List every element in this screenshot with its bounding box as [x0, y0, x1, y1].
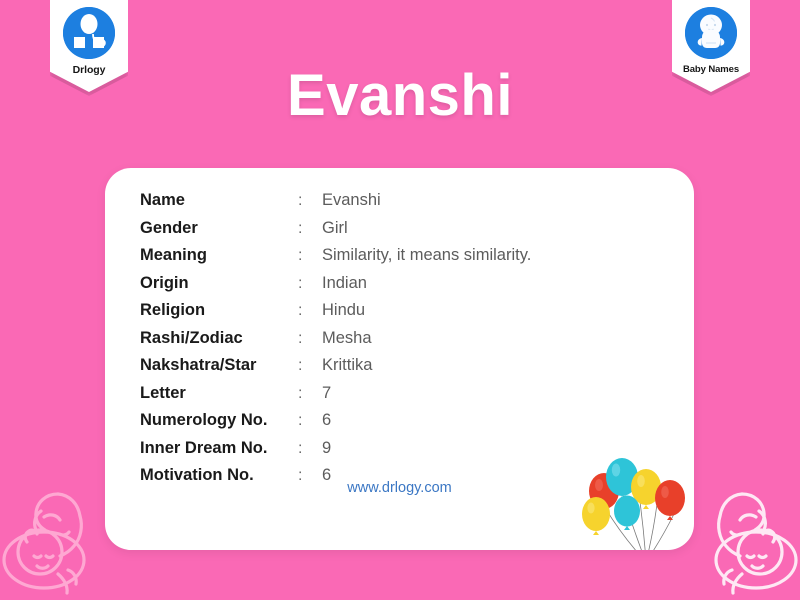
row-label: Religion — [140, 301, 298, 329]
row-separator: : — [298, 246, 322, 274]
row-label: Meaning — [140, 246, 298, 274]
row-value: 7 — [322, 384, 531, 412]
row-value: Similarity, it means similarity. — [322, 246, 531, 274]
row-label: Name — [140, 191, 298, 219]
table-row: Letter : 7 — [140, 384, 531, 412]
website-url[interactable]: www.drlogy.com — [105, 480, 694, 496]
table-row: Name : Evanshi — [140, 191, 531, 219]
table-row: Numerology No. : 6 — [140, 411, 531, 439]
row-separator: : — [298, 329, 322, 357]
row-separator: : — [298, 301, 322, 329]
row-value: Hindu — [322, 301, 531, 329]
row-label: Inner Dream No. — [140, 439, 298, 467]
table-row: Rashi/Zodiac : Mesha — [140, 329, 531, 357]
row-value: Krittika — [322, 356, 531, 384]
row-value: Girl — [322, 219, 531, 247]
row-label: Nakshatra/Star — [140, 356, 298, 384]
row-separator: : — [298, 411, 322, 439]
row-separator: : — [298, 274, 322, 302]
row-value: 9 — [322, 439, 531, 467]
baby-names-badge-label: Baby Names — [683, 64, 739, 75]
table-row: Nakshatra/Star : Krittika — [140, 356, 531, 384]
table-row: Religion : Hindu — [140, 301, 531, 329]
table-row: Gender : Girl — [140, 219, 531, 247]
row-label: Gender — [140, 219, 298, 247]
balloons-icon — [574, 446, 694, 550]
row-label: Letter — [140, 384, 298, 412]
row-separator: : — [298, 191, 322, 219]
row-separator: : — [298, 384, 322, 412]
table-row: Origin : Indian — [140, 274, 531, 302]
row-value: Mesha — [322, 329, 531, 357]
row-value: 6 — [322, 411, 531, 439]
baby-icon — [685, 7, 737, 59]
row-separator: : — [298, 439, 322, 467]
mother-and-baby-icon — [694, 482, 800, 600]
row-value: Indian — [322, 274, 531, 302]
row-separator: : — [298, 356, 322, 384]
name-details-table: Name : Evanshi Gender : Girl Meaning : S… — [140, 191, 531, 494]
row-label: Rashi/Zodiac — [140, 329, 298, 357]
table-row: Inner Dream No. : 9 — [140, 439, 531, 467]
row-label: Origin — [140, 274, 298, 302]
doctor-stethoscope-icon — [63, 7, 115, 59]
row-value: Evanshi — [322, 191, 531, 219]
row-separator: : — [298, 219, 322, 247]
row-label: Numerology No. — [140, 411, 298, 439]
mother-and-baby-icon — [0, 482, 106, 600]
name-details-card: Name : Evanshi Gender : Girl Meaning : S… — [105, 168, 694, 550]
table-row: Meaning : Similarity, it means similarit… — [140, 246, 531, 274]
drlogy-badge-label: Drlogy — [73, 64, 106, 76]
